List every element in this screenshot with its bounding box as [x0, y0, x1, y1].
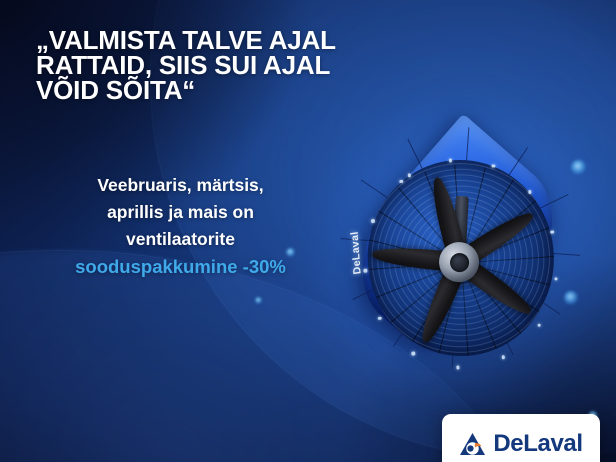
delaval-triangle-mark — [459, 432, 486, 456]
fan-hub-inner — [449, 252, 469, 272]
delaval-wordmark: DeLaval — [493, 432, 582, 456]
subheading-line-2: aprillis ja mais on — [18, 199, 343, 226]
fan-rim-bolt-10 — [412, 352, 416, 356]
subheading-line-1: Veebruaris, märtsis, — [18, 172, 343, 199]
fan-rim-bolt-12 — [363, 269, 367, 273]
product-image-fan: DeLaval — [324, 103, 597, 390]
advertisement-banner: DeLaval „VALMISTA TALVE AJAL RATTAID, SI… — [0, 0, 616, 462]
subheading: Veebruaris, märtsis, aprillis ja mais on… — [18, 172, 343, 282]
fan-rim-bolt-13 — [371, 219, 375, 223]
delaval-logo-panel: DeLaval — [442, 414, 600, 462]
fan-rim-bolt-4 — [528, 190, 532, 194]
discount-offer-text: sooduspakkumine -30% — [18, 253, 343, 282]
headline: „VALMISTA TALVE AJAL RATTAID, SIIS SUI A… — [36, 28, 366, 104]
fan-rim-bolt-2 — [448, 158, 452, 162]
subheading-line-3: ventilaatorite — [18, 226, 343, 253]
